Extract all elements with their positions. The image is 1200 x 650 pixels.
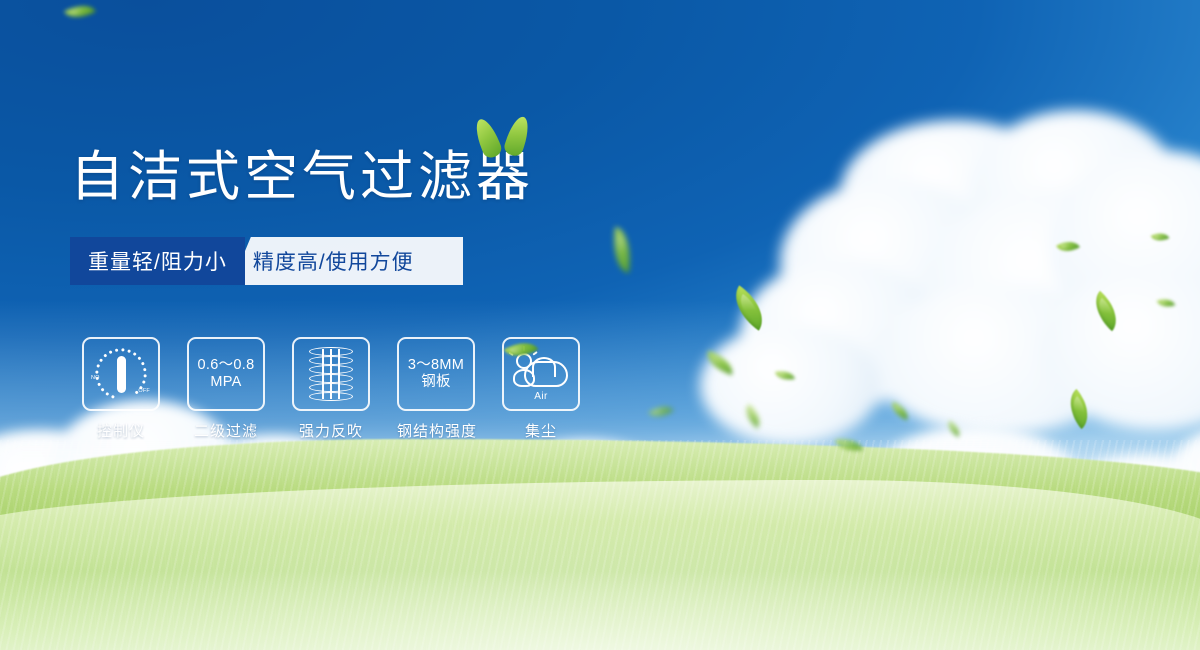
- feature-list: NO OFF 控制仪 0.6～0.8 MPA 二级过滤: [82, 337, 580, 441]
- feature-label: 控制仪: [82, 420, 160, 441]
- pressure-value-line2: MPA: [210, 374, 241, 391]
- filter-coil-icon: [309, 347, 353, 401]
- feature-item-strong-blowback[interactable]: 强力反吹: [292, 337, 370, 441]
- feature-item-dust-collection[interactable]: Air 集尘: [502, 337, 580, 441]
- feature-item-two-stage-filter[interactable]: 0.6～0.8 MPA 二级过滤: [187, 337, 265, 441]
- sprout-leaf-right: [502, 114, 532, 158]
- steel-value-line2: 钢板: [421, 374, 451, 391]
- feature-label: 集尘: [502, 420, 580, 441]
- gauge-needle: [117, 356, 126, 393]
- steel-value-line1: 3～8MM: [408, 357, 464, 374]
- subtitle-segment-left: 重量轻/阻力小: [70, 237, 245, 285]
- feature-icon-box: 0.6～0.8 MPA: [187, 337, 265, 411]
- product-banner: 自洁式空气过滤器 重量轻/阻力小 精度高/使用方便: [0, 0, 1200, 650]
- feature-label: 二级过滤: [187, 420, 265, 441]
- cloud-bump: [532, 357, 556, 377]
- gauge-icon: NO OFF: [93, 348, 149, 400]
- feature-icon-box: NO OFF: [82, 337, 160, 411]
- feature-label: 强力反吹: [292, 420, 370, 441]
- air-label: Air: [512, 391, 570, 402]
- sprout-leaves-icon: [474, 112, 536, 160]
- sprout-leaf-left: [471, 116, 504, 160]
- page-title: 自洁式空气过滤器: [70, 146, 534, 208]
- feature-icon-box: 3～8MM 钢板: [397, 337, 475, 411]
- feature-item-control-unit[interactable]: NO OFF 控制仪: [82, 337, 160, 441]
- subtitle-bar: 重量轻/阻力小 精度高/使用方便: [70, 237, 463, 285]
- feature-item-steel-strength[interactable]: 3～8MM 钢板 钢结构强度: [397, 337, 475, 441]
- feature-icon-box: [292, 337, 370, 411]
- feature-label: 钢结构强度: [397, 420, 475, 441]
- feature-icon-box: Air: [502, 337, 580, 411]
- subtitle-segment-right: 精度高/使用方便: [231, 237, 463, 285]
- gauge-label-no: NO: [91, 375, 100, 381]
- pressure-value-line1: 0.6～0.8: [198, 357, 255, 374]
- grass-glow: [0, 450, 1200, 650]
- gauge-label-off: OFF: [138, 388, 150, 394]
- cloud-sun-air-icon: Air: [512, 349, 570, 399]
